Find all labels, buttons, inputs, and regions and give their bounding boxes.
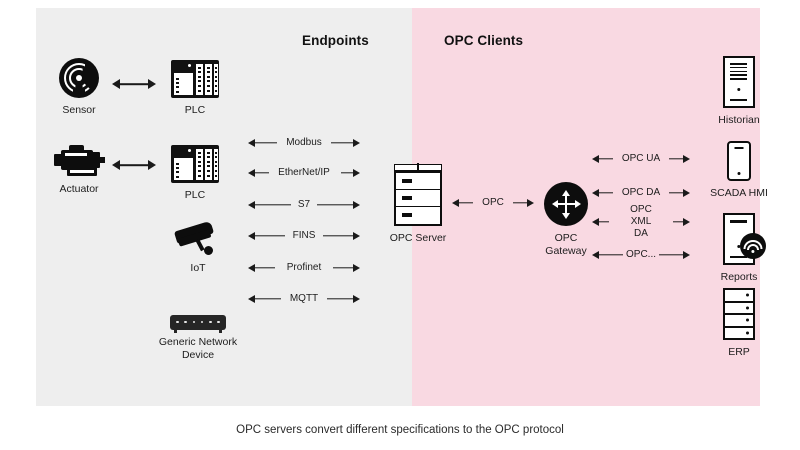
- node-label: Reports: [706, 271, 772, 284]
- connector-label: Modbus: [283, 137, 325, 149]
- node-iot[interactable]: IoT: [168, 222, 228, 275]
- connector-label: Profinet: [284, 262, 324, 274]
- node-label: OPC Server: [383, 232, 453, 245]
- node-historian[interactable]: Historian: [706, 56, 772, 127]
- plc-icon: [171, 145, 219, 183]
- node-scada-hmi[interactable]: SCADA HMI: [702, 141, 776, 200]
- connector-label: EtherNet/IP: [275, 167, 333, 179]
- node-label: ERP: [706, 346, 772, 359]
- wifi-icon: [740, 233, 766, 259]
- node-opc-gateway[interactable]: OPC Gateway: [536, 182, 596, 258]
- sensor-icon: [59, 58, 99, 98]
- connector-s7: S7: [248, 198, 360, 212]
- connector-fins: FINS: [248, 229, 360, 243]
- node-label: PLC: [165, 189, 225, 202]
- connector-label: S7: [295, 199, 313, 211]
- plc-icon: [171, 60, 219, 98]
- arrow-sensor-plc: [112, 78, 156, 90]
- node-label: PLC: [165, 104, 225, 117]
- node-label: Historian: [706, 114, 772, 127]
- connector-label: MQTT: [287, 293, 321, 305]
- connector-label: FINS: [290, 230, 319, 242]
- node-label: IoT: [168, 262, 228, 275]
- diagram-canvas: Endpoints OPC Clients Sensor Actuator Io…: [0, 0, 800, 450]
- node-opc-server[interactable]: OPC Server: [383, 164, 453, 245]
- network-switch-icon: [170, 315, 226, 330]
- node-sensor[interactable]: Sensor: [38, 58, 120, 117]
- server-cabinet-icon: [394, 164, 442, 226]
- node-label: Sensor: [38, 104, 120, 117]
- node-plc-2[interactable]: PLC: [165, 145, 225, 202]
- panel-title-opc-clients: OPC Clients: [444, 33, 523, 48]
- node-reports[interactable]: Reports: [706, 213, 772, 284]
- connector-label: OPC DA: [619, 187, 663, 199]
- node-plc-1[interactable]: PLC: [165, 60, 225, 117]
- node-label: OPC Gateway: [536, 232, 596, 258]
- connector-opc-ua: OPC UA: [592, 152, 690, 166]
- connector-opc-xml-da: OPC XML DA: [592, 215, 690, 229]
- connector-opc-other: OPC...: [592, 248, 690, 262]
- connector-ethernet-ip: EtherNet/IP: [248, 166, 360, 180]
- connector-opc-da: OPC DA: [592, 186, 690, 200]
- camera-icon: [175, 222, 221, 256]
- connector-profinet: Profinet: [248, 261, 360, 275]
- node-label: Generic Network Device: [140, 336, 256, 362]
- server-tower-wifi-icon: [723, 213, 755, 265]
- connector-label: OPC: [479, 197, 507, 209]
- panel-title-endpoints: Endpoints: [302, 33, 369, 48]
- figure-caption: OPC servers convert different specificat…: [0, 424, 800, 436]
- connector-mqtt: MQTT: [248, 292, 360, 306]
- arrow-actuator-plc: [112, 159, 156, 171]
- gateway-router-icon: [544, 182, 588, 226]
- connector-modbus: Modbus: [248, 136, 360, 150]
- phone-icon: [727, 141, 751, 181]
- server-tower-icon: [723, 56, 755, 108]
- connector-label: OPC UA: [619, 153, 663, 165]
- node-generic-network-device[interactable]: Generic Network Device: [140, 315, 256, 362]
- connector-label: OPC...: [623, 249, 659, 261]
- node-label: Actuator: [32, 183, 126, 196]
- node-erp[interactable]: ERP: [706, 288, 772, 359]
- rack-icon: [723, 288, 755, 340]
- node-label: SCADA HMI: [702, 187, 776, 200]
- connector-opc: OPC: [452, 196, 534, 210]
- connector-label: OPC XML DA: [617, 204, 666, 240]
- actuator-icon: [52, 145, 106, 177]
